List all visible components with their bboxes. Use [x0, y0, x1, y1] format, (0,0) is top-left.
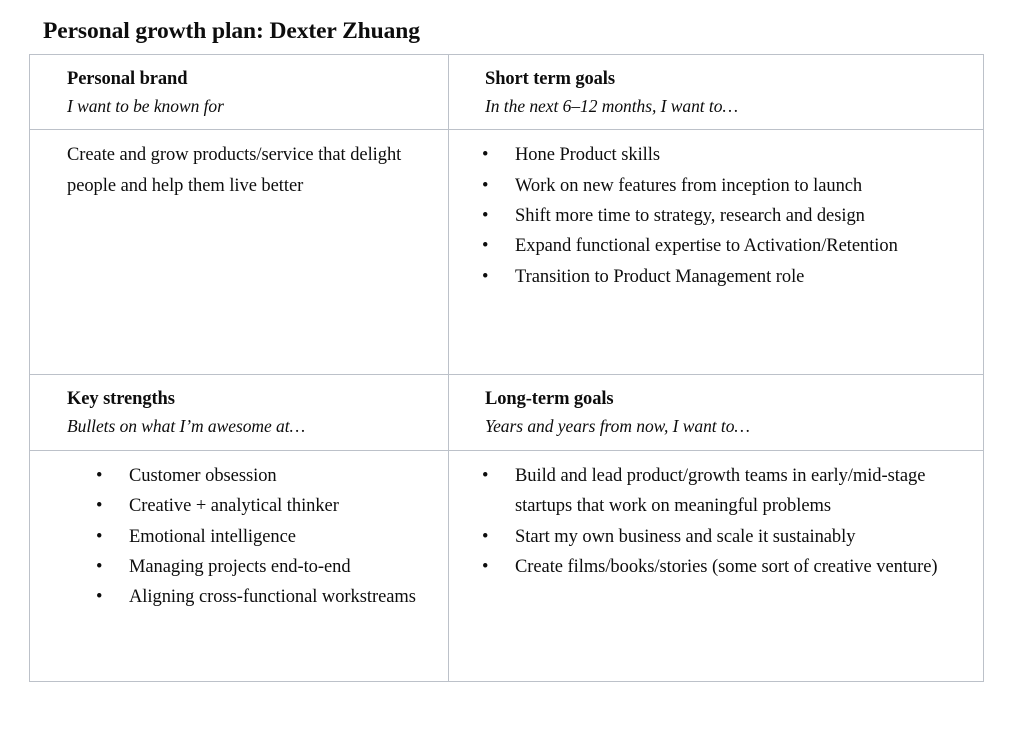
list-item-label: Customer obsession	[129, 466, 277, 486]
key-strengths-list: •Customer obsession•Creative + analytica…	[96, 461, 426, 613]
personal-brand-heading: Personal brand	[67, 68, 438, 92]
list-item: •Start my own business and scale it sust…	[482, 522, 952, 552]
list-item: •Work on new features from inception to …	[482, 171, 952, 201]
cell-key-strengths-header: Key strengths Bullets on what I’m awesom…	[30, 375, 449, 450]
list-item-label: Create films/books/stories (some sort of…	[515, 557, 937, 577]
long-term-goals-heading: Long-term goals	[485, 388, 973, 412]
list-item-label: Hone Product skills	[515, 145, 660, 165]
long-term-goals-subheading: Years and years from now, I want to…	[485, 415, 973, 438]
list-item: •Aligning cross-functional workstreams	[96, 582, 426, 612]
list-item: •Creative + analytical thinker	[96, 491, 426, 521]
long-term-goals-list: •Build and lead product/growth teams in …	[482, 461, 952, 582]
list-item: •Managing projects end-to-end	[96, 552, 426, 582]
bullet-icon: •	[96, 552, 102, 582]
bullet-icon: •	[482, 461, 488, 491]
personal-brand-text: Create and grow products/service that de…	[67, 140, 434, 201]
cell-personal-brand-body: Create and grow products/service that de…	[30, 130, 449, 375]
list-item-label: Creative + analytical thinker	[129, 496, 339, 516]
personal-brand-subheading: I want to be known for	[67, 95, 438, 118]
list-item: •Hone Product skills	[482, 140, 952, 170]
short-term-goals-list: •Hone Product skills•Work on new feature…	[482, 140, 952, 292]
list-item: •Emotional intelligence	[96, 522, 426, 552]
bullet-icon: •	[482, 201, 488, 231]
list-item: •Shift more time to strategy, research a…	[482, 201, 952, 231]
list-item: •Expand functional expertise to Activati…	[482, 231, 952, 261]
table-row: Personal brand I want to be known for Sh…	[30, 55, 984, 130]
list-item-label: Expand functional expertise to Activatio…	[515, 236, 898, 256]
list-item-label: Start my own business and scale it susta…	[515, 527, 855, 547]
bullet-icon: •	[482, 140, 488, 170]
table-row: Key strengths Bullets on what I’m awesom…	[30, 375, 984, 450]
bullet-icon: •	[482, 262, 488, 292]
table-row: •Customer obsession•Creative + analytica…	[30, 450, 984, 681]
bullet-icon: •	[482, 552, 488, 582]
page-title: Personal growth plan: Dexter Zhuang	[43, 18, 420, 45]
list-item-label: Shift more time to strategy, research an…	[515, 206, 865, 226]
bullet-icon: •	[482, 522, 488, 552]
list-item: •Customer obsession	[96, 461, 426, 491]
list-item: •Build and lead product/growth teams in …	[482, 461, 952, 522]
list-item-label: Work on new features from inception to l…	[515, 176, 862, 196]
bullet-icon: •	[96, 491, 102, 521]
key-strengths-subheading: Bullets on what I’m awesome at…	[67, 415, 438, 438]
short-term-goals-subheading: In the next 6–12 months, I want to…	[485, 95, 973, 118]
list-item: •Create films/books/stories (some sort o…	[482, 552, 952, 582]
list-item-label: Managing projects end-to-end	[129, 557, 351, 577]
document-page: Personal growth plan: Dexter Zhuang Pers…	[0, 0, 1020, 734]
bullet-icon: •	[482, 231, 488, 261]
cell-key-strengths-body: •Customer obsession•Creative + analytica…	[30, 450, 449, 681]
list-item: •Transition to Product Management role	[482, 262, 952, 292]
cell-long-term-goals-body: •Build and lead product/growth teams in …	[449, 450, 984, 681]
cell-long-term-goals-header: Long-term goals Years and years from now…	[449, 375, 984, 450]
key-strengths-heading: Key strengths	[67, 388, 438, 412]
cell-short-term-goals-body: •Hone Product skills•Work on new feature…	[449, 130, 984, 375]
bullet-icon: •	[482, 171, 488, 201]
list-item-label: Emotional intelligence	[129, 527, 296, 547]
table-row: Create and grow products/service that de…	[30, 130, 984, 375]
cell-personal-brand-header: Personal brand I want to be known for	[30, 55, 449, 130]
short-term-goals-heading: Short term goals	[485, 68, 973, 92]
list-item-label: Transition to Product Management role	[515, 267, 804, 287]
bullet-icon: •	[96, 461, 102, 491]
list-item-label: Build and lead product/growth teams in e…	[515, 466, 925, 516]
list-item-label: Aligning cross-functional workstreams	[129, 587, 416, 607]
bullet-icon: •	[96, 522, 102, 552]
bullet-icon: •	[96, 582, 102, 612]
cell-short-term-goals-header: Short term goals In the next 6–12 months…	[449, 55, 984, 130]
growth-plan-table: Personal brand I want to be known for Sh…	[29, 54, 984, 682]
